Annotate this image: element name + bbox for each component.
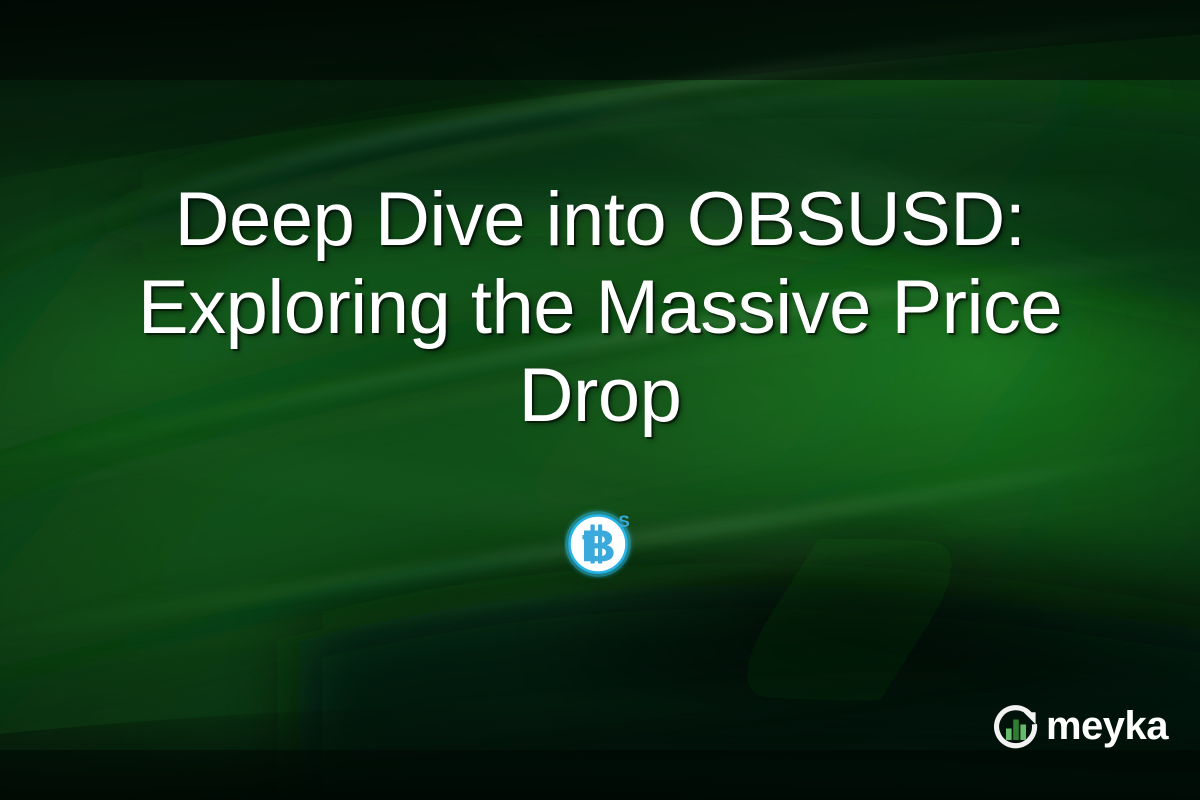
obs-coin-icon: S <box>564 507 636 579</box>
title-line-2: Exploring the Massive Price <box>60 264 1140 352</box>
article-hero-banner: Deep Dive into OBSUSD: Exploring the Mas… <box>0 0 1200 800</box>
meyka-brand-logo[interactable]: meyka <box>992 700 1168 752</box>
title-line-3: Drop <box>60 352 1140 440</box>
svg-text:S: S <box>618 512 629 531</box>
title-line-1: Deep Dive into OBSUSD: <box>60 176 1140 264</box>
meyka-wordmark: meyka <box>1046 706 1168 746</box>
page-title: Deep Dive into OBSUSD: Exploring the Mas… <box>0 176 1200 440</box>
meyka-chart-ring-icon <box>992 702 1040 750</box>
